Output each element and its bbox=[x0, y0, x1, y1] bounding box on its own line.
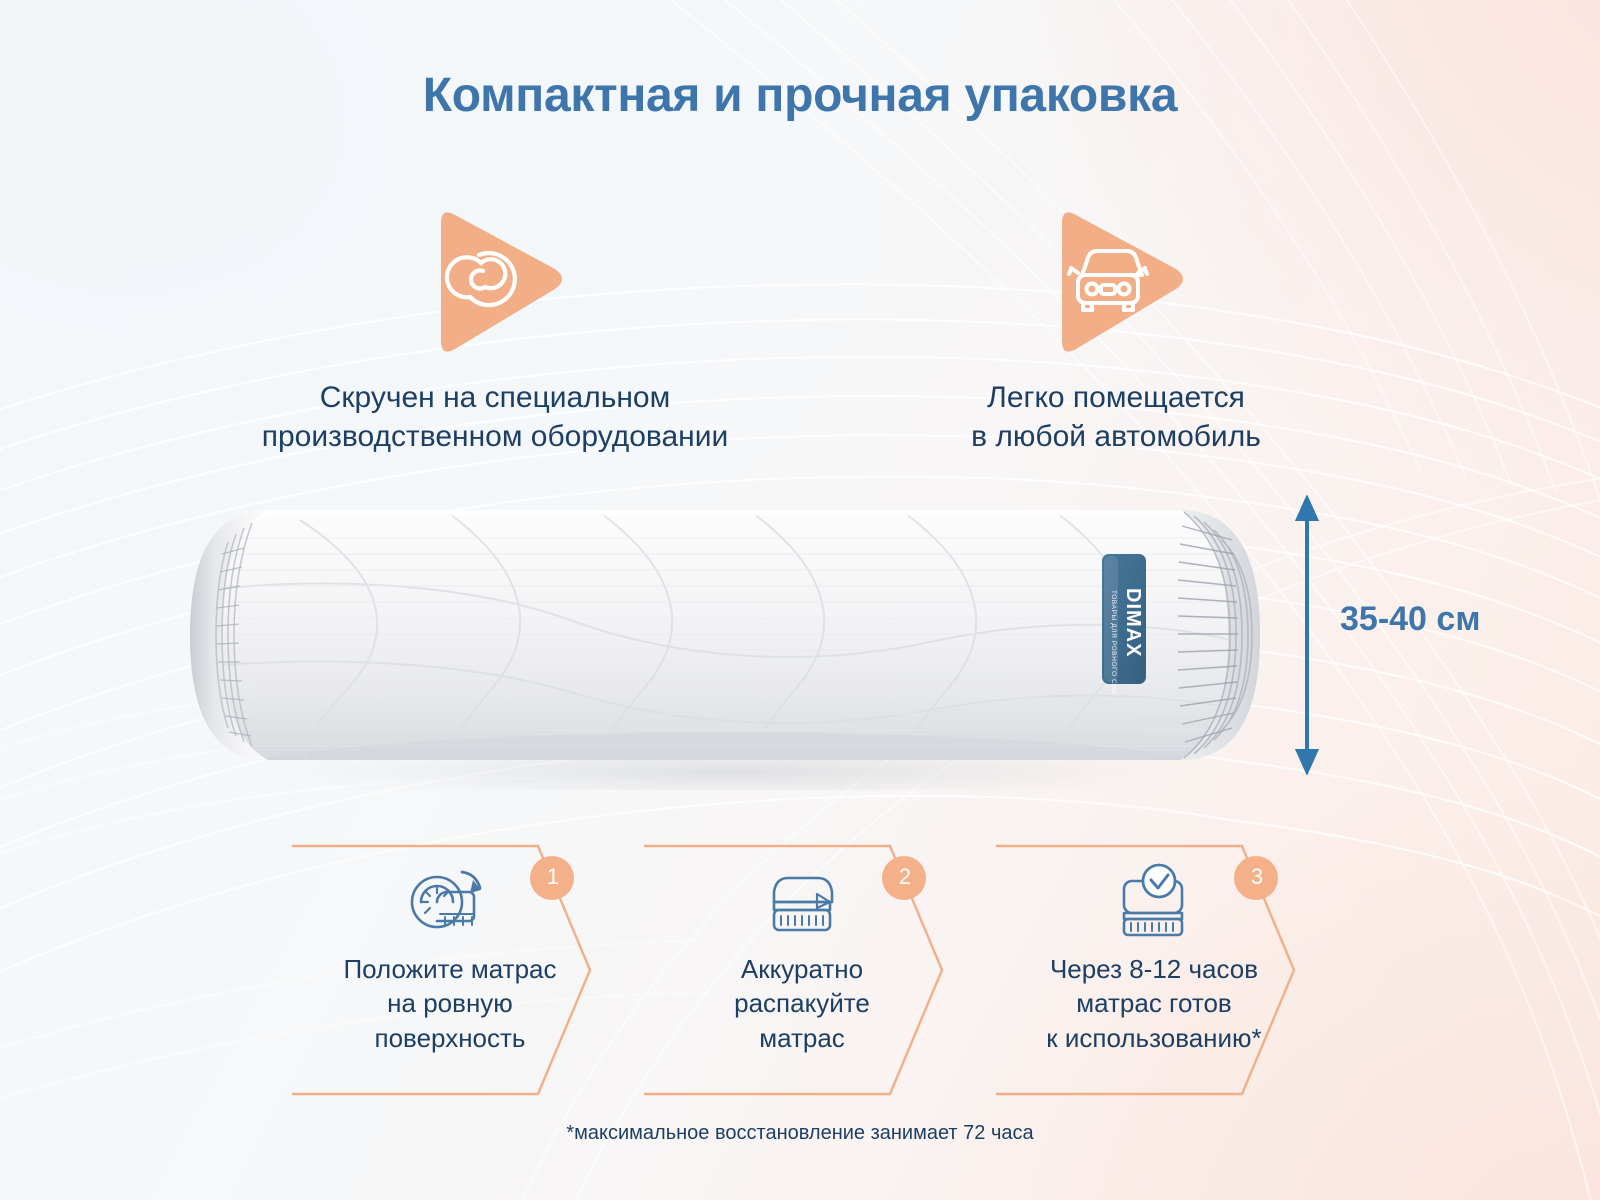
page-title: Компактная и прочная упаковка bbox=[0, 68, 1600, 123]
mattress-ready-check-icon bbox=[994, 860, 1314, 946]
dimension-label: 35-40 см bbox=[1340, 600, 1480, 639]
step-text-line2: распакуйте bbox=[642, 986, 962, 1020]
feature-text: Легко помещается в любой автомобиль bbox=[836, 378, 1396, 456]
steps-container: 1 Положите матрас на ровную по bbox=[290, 840, 1300, 1100]
step-text: Положите матрас на ровную поверхность bbox=[290, 952, 610, 1055]
step-text-line3: матрас bbox=[642, 1021, 962, 1055]
double-arrow-vertical-icon bbox=[1285, 495, 1345, 775]
dimension-indicator: 35-40 см bbox=[1285, 495, 1585, 775]
feature-text-line1: Скручен на специальном bbox=[190, 378, 800, 417]
step-text-line2: матрас готов bbox=[994, 986, 1314, 1020]
step-text-line1: Положите матрас bbox=[290, 952, 610, 986]
step-text-line3: к использованию* bbox=[994, 1021, 1314, 1055]
feature-text: Скручен на специальном производственном … bbox=[190, 378, 800, 456]
feature-text-line1: Легко помещается bbox=[836, 378, 1396, 417]
feature-block-rolled: Скручен на специальном производственном … bbox=[190, 196, 800, 456]
step-text: Аккуратно распакуйте матрас bbox=[642, 952, 962, 1055]
svg-text:ТОВАРЫ ДЛЯ РОВНОГО СНА: ТОВАРЫ ДЛЯ РОВНОГО СНА bbox=[1110, 590, 1117, 695]
feature-text-line2: производственном оборудовании bbox=[190, 417, 800, 456]
step-card-3[interactable]: 3 Через 8-12 часов матрас готов к исполь… bbox=[994, 840, 1314, 1100]
unroll-mattress-icon bbox=[290, 860, 610, 946]
feature-block-car: Легко помещается в любой автомобиль bbox=[836, 196, 1396, 456]
step-text: Через 8-12 часов матрас готов к использо… bbox=[994, 952, 1314, 1055]
step-card-1[interactable]: 1 Положите матрас на ровную по bbox=[290, 840, 610, 1100]
step-text-line1: Аккуратно bbox=[642, 952, 962, 986]
dimax-tag: DIMAX ТОВАРЫ ДЛЯ РОВНОГО СНА bbox=[1102, 554, 1146, 695]
unpack-mattress-icon bbox=[642, 860, 962, 946]
step-text-line2: на ровную bbox=[290, 986, 610, 1020]
feature-icon-wrapper bbox=[190, 196, 800, 368]
car-front-icon bbox=[1040, 203, 1192, 361]
feature-icon-wrapper bbox=[836, 196, 1396, 368]
step-text-line3: поверхность bbox=[290, 1021, 610, 1055]
step-card-2[interactable]: 2 Аккуратно распакуйте матрас bbox=[642, 840, 962, 1100]
feature-text-line2: в любой автомобиль bbox=[836, 417, 1396, 456]
spiral-roll-icon bbox=[419, 203, 571, 361]
rolled-mattress-image: DIMAX ТОВАРЫ ДЛЯ РОВНОГО СНА bbox=[150, 480, 1320, 790]
footnote: *максимальное восстановление занимает 72… bbox=[0, 1122, 1600, 1145]
svg-text:DIMAX: DIMAX bbox=[1122, 588, 1144, 657]
step-text-line1: Через 8-12 часов bbox=[994, 952, 1314, 986]
